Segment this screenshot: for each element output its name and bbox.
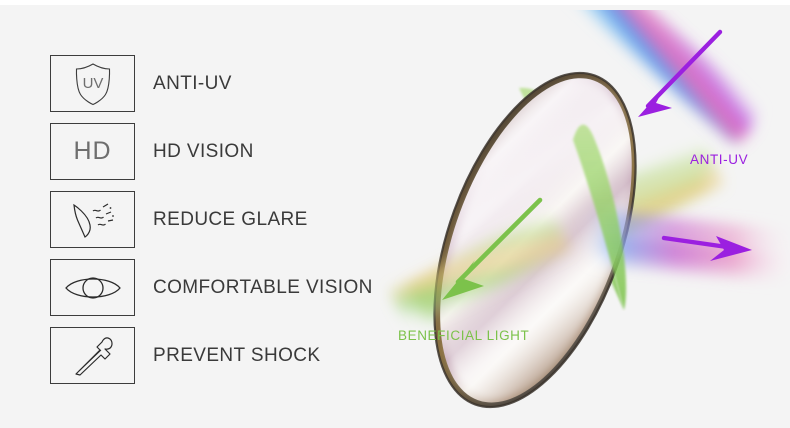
hd-text-icon: HD xyxy=(73,137,111,166)
icon-box-comfortable-vision xyxy=(50,259,135,316)
top-white-strip xyxy=(0,0,790,5)
uv-shield-icon: UV xyxy=(67,61,119,107)
hammer-icon xyxy=(68,333,118,379)
feature-row: REDUCE GLARE xyxy=(50,191,400,248)
glare-rays-icon xyxy=(65,198,121,242)
ray-label-beneficial-light: BENEFICIAL LIGHT xyxy=(398,328,529,343)
ray-label-anti-uv: ANTI-UV xyxy=(690,152,748,167)
feature-row: UV ANTI-UV xyxy=(50,55,400,112)
feature-row: HD HD VISION xyxy=(50,123,400,180)
feature-label-reduce-glare: REDUCE GLARE xyxy=(153,209,308,231)
feature-label-anti-uv: ANTI-UV xyxy=(153,73,232,95)
feature-row: PREVENT SHOCK xyxy=(50,327,400,384)
feature-label-prevent-shock: PREVENT SHOCK xyxy=(153,345,320,367)
feature-label-hd-vision: HD VISION xyxy=(153,141,254,163)
icon-box-reduce-glare xyxy=(50,191,135,248)
eye-icon xyxy=(62,271,124,305)
feature-list: UV ANTI-UV HD HD VISION xyxy=(50,55,400,395)
icon-box-hd-vision: HD xyxy=(50,123,135,180)
infographic-page: UV ANTI-UV HD HD VISION xyxy=(0,0,790,428)
lens-illustration: ANTI-UV BENEFICIAL LIGHT xyxy=(380,10,790,420)
feature-label-comfortable-vision: COMFORTABLE VISION xyxy=(153,277,373,299)
icon-box-anti-uv: UV xyxy=(50,55,135,112)
uv-shield-icon-text: UV xyxy=(82,75,103,92)
feature-row: COMFORTABLE VISION xyxy=(50,259,400,316)
icon-box-prevent-shock xyxy=(50,327,135,384)
